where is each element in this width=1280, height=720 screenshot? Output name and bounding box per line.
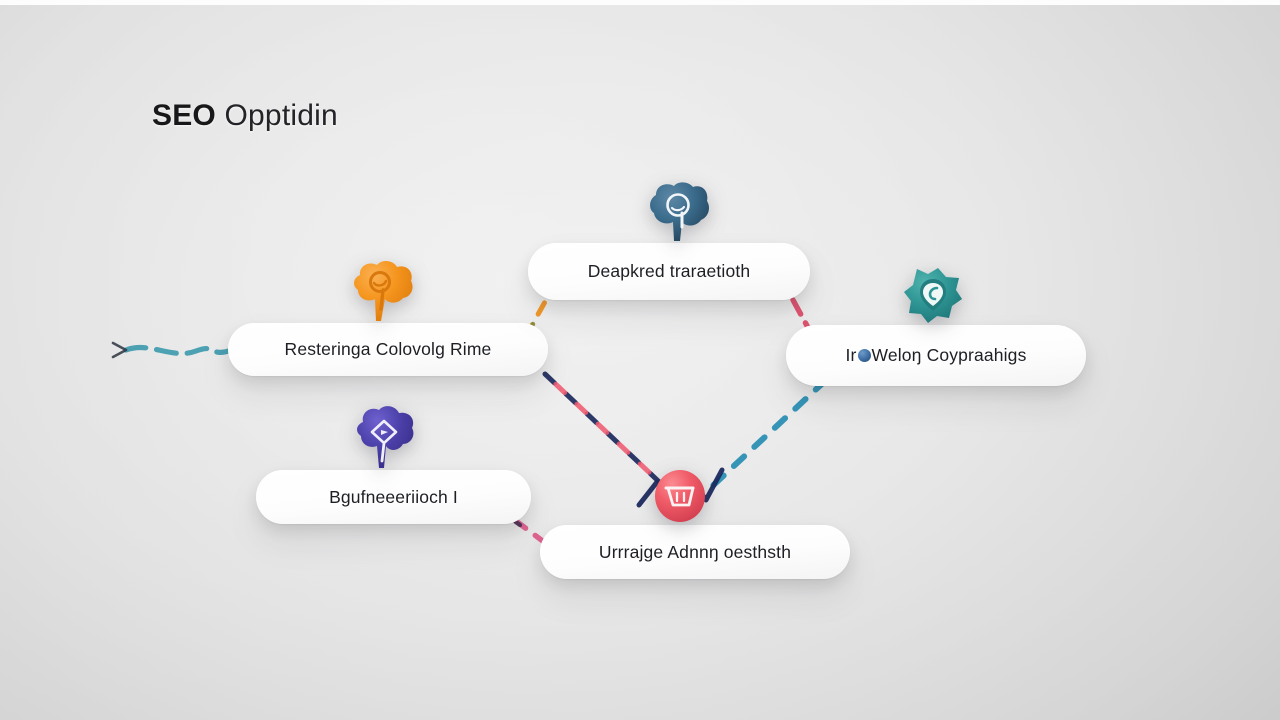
marker-cart[interactable] [652,468,708,524]
marker-teal[interactable] [897,261,969,331]
page-title: SEO Opptidin [152,96,338,136]
card-wealth-label-before: Ir [846,345,857,366]
card-referring-label: Resteringa Colovolg Rime [285,339,492,360]
card-engineer[interactable]: Bgufneeeriioch I [256,470,531,524]
card-wealth[interactable]: Ir Weloŋ Coypraahigs [786,325,1086,386]
card-referring[interactable]: Resteringa Colovolg Rime [228,323,548,376]
card-wealth-label-after: Weloŋ Coypraahigs [872,345,1027,366]
card-engineer-label: Bgufneeeriioch I [329,487,458,508]
connector-inbound-left [113,343,232,357]
marker-blue[interactable] [641,179,715,251]
shopping-cart-icon [652,468,708,524]
page-title-light: Opptidin [225,99,338,132]
card-manage[interactable]: Urrrajge Adnnŋ oesthsth [540,525,850,579]
connector-wealth-cart [706,380,826,492]
page-title-strong: SEO [152,99,216,132]
card-backlink[interactable]: Deapkred traraetioth [528,243,810,300]
location-pin-icon [897,261,969,331]
marker-purple[interactable] [349,404,421,474]
search-pin-icon [347,259,419,325]
globe-dot-icon [858,349,871,362]
marker-orange[interactable] [347,259,419,325]
card-manage-label: Urrrajge Adnnŋ oesthsth [599,542,791,563]
card-backlink-label: Deapkred traraetioth [588,261,751,282]
magnifier-pin-icon [641,179,715,251]
diamond-pin-icon [349,404,421,474]
diagram-canvas: SEO Opptidin [0,0,1280,720]
